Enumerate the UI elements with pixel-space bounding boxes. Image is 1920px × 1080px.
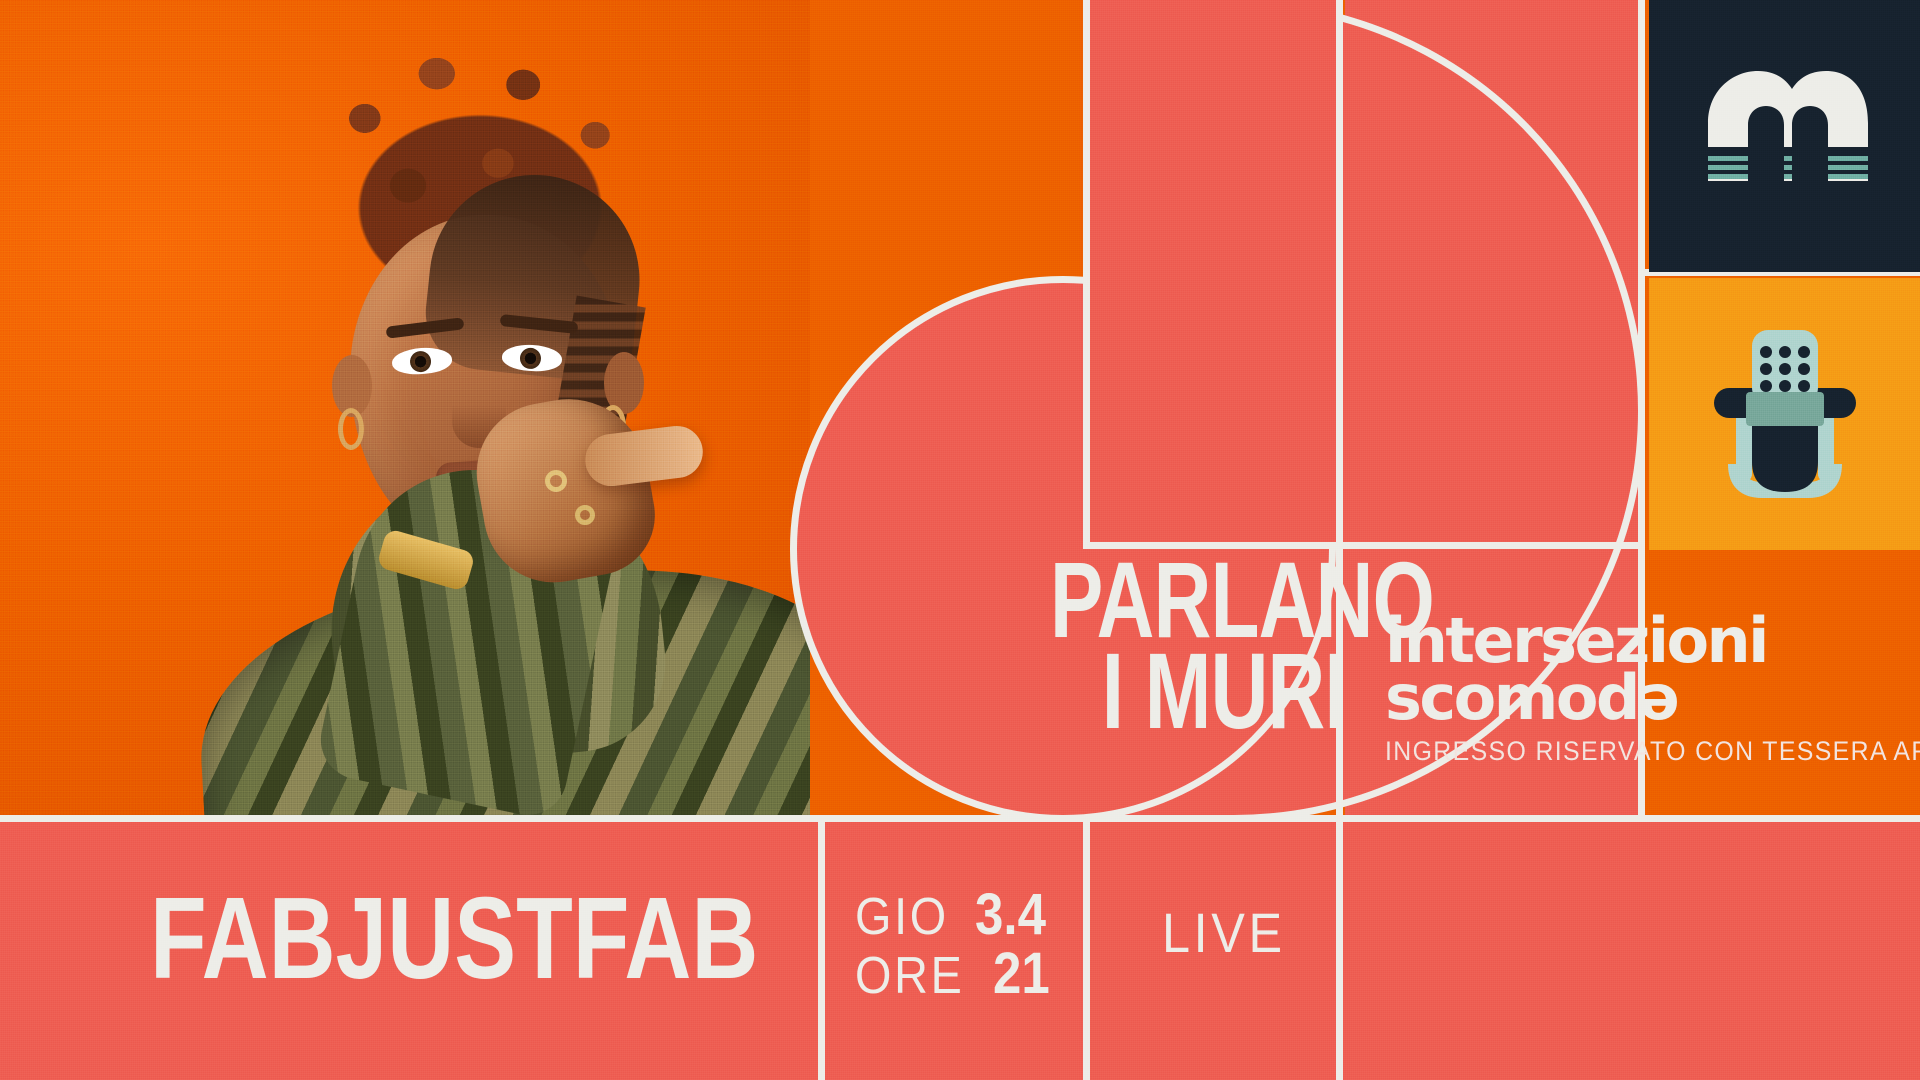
time-label: ORE [855,950,965,1003]
time-row: ORE 21 [855,944,1057,1003]
brand-line-2: scomodə [1385,669,1905,726]
photo-grain-overlay [0,0,810,822]
magazzino-logo-tile [1649,0,1920,272]
brand-block: intersezioni scomodə INGRESSO RISERVATO … [1385,612,1905,767]
coral-panel-center-top [1090,0,1342,546]
format-label: LIVE [1162,900,1286,965]
date-time-block: GIO 3.4 ORE 21 [855,885,1057,1003]
divider-vertical-date [818,822,825,1080]
divider-vertical-right-top [1336,0,1343,549]
date-label: GIO [855,891,949,944]
divider-horizontal-bottom [0,815,1920,822]
microphone-icon [1690,314,1880,514]
artist-photo [0,0,810,822]
date-value: 3.4 [975,885,1046,944]
artist-name: FABJUSTFAB [150,880,758,996]
m-monogram-logo [1700,61,1870,211]
microphone-logo-tile [1649,278,1920,550]
divider-vertical-bottom-right [1336,822,1343,1080]
date-row: GIO 3.4 [855,885,1057,944]
brand-note: INGRESSO RISERVATO CON TESSERA ARCI [1385,736,1863,767]
time-value: 21 [993,944,1050,1003]
event-poster: PARLANO I MURI intersezioni scomodə INGR… [0,0,1920,1080]
divider-vertical-live [1083,822,1090,1080]
divider-vertical-center-top [1083,0,1090,549]
event-title: PARLANO I MURI [1050,555,1346,736]
